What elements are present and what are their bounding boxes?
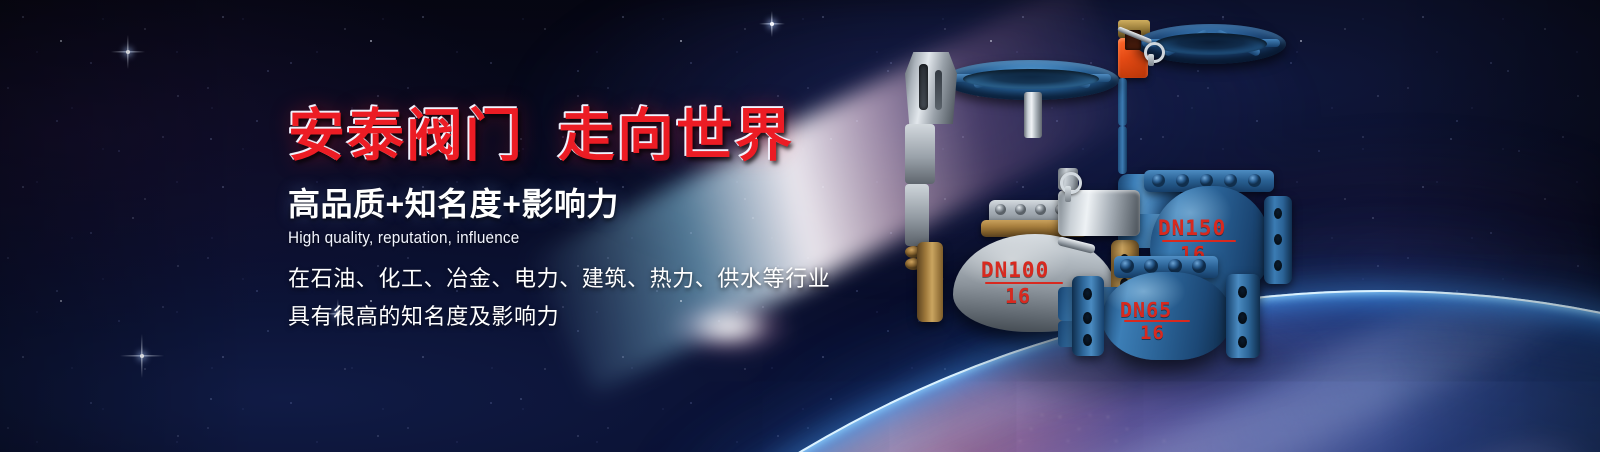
product-plug-valve: DN65 16: [1058, 168, 1298, 368]
description-line-1: 在石油、化工、冶金、电力、建筑、热力、供水等行业: [288, 268, 968, 290]
headline: 安泰阀门走向世界: [288, 108, 968, 165]
promo-banner: 安泰阀门走向世界 高品质+知名度+影响力 High quality, reput…: [0, 0, 1600, 452]
valve-yoke: [905, 52, 957, 124]
valve-size-marking: DN100: [981, 258, 1049, 282]
valve-rating-marking: 16: [1140, 322, 1165, 344]
valve-rating-marking: 16: [1005, 284, 1031, 308]
subheadline-english: High quality, reputation, influence: [288, 229, 900, 246]
outlet-flange: [1226, 274, 1260, 358]
banner-copy: 安泰阀门走向世界 高品质+知名度+影响力 High quality, reput…: [288, 108, 968, 328]
inlet-flange: [917, 242, 943, 322]
subheadline: 高品质+知名度+影响力: [288, 188, 968, 220]
inlet-flange: [1072, 276, 1104, 356]
outlet-neck: [905, 184, 929, 246]
description-line-2: 具有很高的知名度及影响力: [288, 306, 968, 328]
inlet-neck: [905, 124, 935, 184]
valve-stem: [1024, 92, 1042, 138]
headline-part1: 安泰阀门: [288, 104, 524, 168]
valve-size-marking: DN65: [1120, 298, 1172, 322]
headline-part2: 走向世界: [558, 104, 794, 168]
